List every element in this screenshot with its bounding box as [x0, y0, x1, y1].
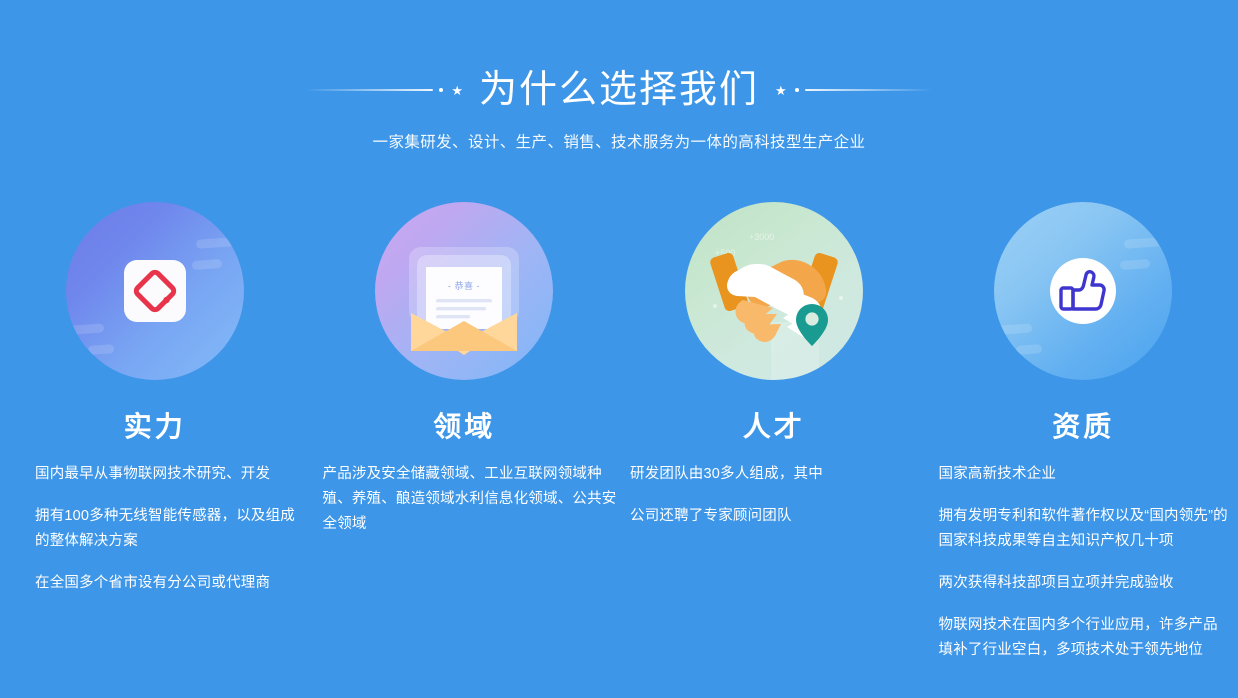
icon-strength	[66, 202, 244, 380]
feature-column-talent: +3000 +500 +100	[619, 202, 929, 529]
column-paragraph: 拥有100多种无线智能传感器，以及组成的整体解决方案	[35, 504, 296, 554]
feature-column-qualification: 资质 国家高新技术企业 拥有发明专利和软件著作权以及“国内领先”的国家科技成果等…	[929, 202, 1238, 663]
letter-text: - 恭喜 -	[448, 280, 480, 291]
column-paragraph: 公司还聘了专家顾问团队	[630, 504, 929, 529]
page-subtitle: 一家集研发、设计、生产、销售、技术服务为一体的高科技型生产企业	[0, 132, 1238, 154]
page-title: 为什么选择我们	[463, 68, 775, 112]
title-row: ★ 为什么选择我们 ★	[0, 62, 1238, 118]
icon-fields: - 恭喜 -	[375, 202, 553, 380]
column-body: 国内最早从事物联网技术研究、开发 拥有100多种无线智能传感器，以及组成的整体解…	[0, 462, 310, 596]
column-paragraph: 拥有发明专利和软件著作权以及“国内领先”的国家科技成果等自主知识产权几十项	[939, 504, 1233, 554]
column-body: 产品涉及安全储藏领域、工业互联网领域种殖、养殖、酿造领域水利信息化领域、公共安全…	[310, 462, 620, 537]
column-title: 资质	[1052, 410, 1114, 444]
feature-column-strength: 实力 国内最早从事物联网技术研究、开发 拥有100多种无线智能传感器，以及组成的…	[0, 202, 310, 596]
ornament-dot-left	[439, 88, 443, 92]
diamond-card-icon	[66, 202, 244, 380]
ornament-dot-right	[795, 88, 799, 92]
envelope-letter-icon: - 恭喜 -	[375, 202, 553, 380]
ornament-left: ★	[305, 80, 463, 100]
column-paragraph: 国家高新技术企业	[939, 462, 1233, 487]
ornament-right: ★	[775, 80, 933, 100]
section-header: ★ 为什么选择我们 ★ 一家集研发、设计、生产、销售、技术服务为一体的高科技型生…	[0, 0, 1238, 154]
column-title: 领域	[433, 410, 495, 444]
column-body: 国家高新技术企业 拥有发明专利和软件著作权以及“国内领先”的国家科技成果等自主知…	[929, 462, 1238, 663]
handshake-icon	[685, 202, 863, 380]
icon-qualification	[994, 202, 1172, 380]
column-paragraph: 国内最早从事物联网技术研究、开发	[35, 462, 296, 487]
why-choose-us-section: ★ 为什么选择我们 ★ 一家集研发、设计、生产、销售、技术服务为一体的高科技型生…	[0, 0, 1238, 698]
thumbs-up-icon	[994, 202, 1172, 380]
star-icon: ★	[451, 84, 463, 97]
column-title: 人才	[743, 410, 805, 444]
column-title: 实力	[124, 410, 186, 444]
column-paragraph: 产品涉及安全储藏领域、工业互联网领域种殖、养殖、酿造领域水利信息化领域、公共安全…	[323, 462, 620, 537]
icon-talent: +3000 +500 +100	[685, 202, 863, 380]
column-paragraph: 研发团队由30多人组成，其中	[630, 462, 929, 487]
feature-column-fields: - 恭喜 - 领域 产品涉及安全储藏领域、工业互联网领域种殖、养殖、酿造领域水利…	[310, 202, 620, 537]
ornament-line-left	[305, 89, 433, 91]
ornament-line-right	[805, 89, 933, 91]
column-body: 研发团队由30多人组成，其中 公司还聘了专家顾问团队	[619, 462, 929, 529]
feature-columns: 实力 国内最早从事物联网技术研究、开发 拥有100多种无线智能传感器，以及组成的…	[0, 202, 1238, 663]
column-paragraph: 物联网技术在国内多个行业应用，许多产品填补了行业空白，多项技术处于领先地位	[939, 613, 1233, 663]
column-paragraph: 两次获得科技部项目立项并完成验收	[939, 571, 1233, 596]
star-icon: ★	[775, 84, 787, 97]
column-paragraph: 在全国多个省市设有分公司或代理商	[35, 571, 296, 596]
